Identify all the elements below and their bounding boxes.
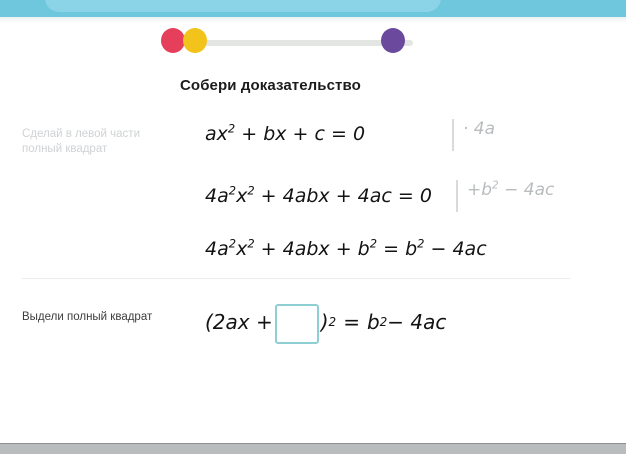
equation-3-eqpart: = b bbox=[377, 238, 417, 260]
equation-2-a: 4a bbox=[205, 185, 229, 207]
answer-equation-rhs-tail: − 4ac bbox=[387, 310, 446, 334]
answer-input-box[interactable] bbox=[275, 304, 319, 344]
progress-indicator bbox=[0, 28, 626, 54]
answer-equation-relation: = bbox=[343, 310, 360, 334]
annotation-2-tail: − 4ac bbox=[499, 180, 555, 200]
annotation-add-b2-minus-4ac: +b2 − 4ac bbox=[456, 180, 554, 212]
step-label-make-square: Сделай в левой части полный квадрат bbox=[22, 127, 182, 157]
equation-2-x-exponent: 2 bbox=[247, 184, 254, 198]
answer-equation-close: ) bbox=[321, 310, 329, 334]
equation-3-x: x bbox=[236, 238, 247, 260]
equation-3-a: 4a bbox=[205, 238, 229, 260]
page-title: Собери доказательство bbox=[180, 77, 361, 94]
footer-strip bbox=[0, 443, 626, 454]
annotation-2-exponent: 2 bbox=[492, 179, 499, 191]
equation-1-base: ax bbox=[205, 123, 228, 145]
equation-2-a-exponent: 2 bbox=[229, 184, 236, 198]
equation-2-rest: + 4abx + 4ac = 0 bbox=[255, 185, 432, 207]
answer-equation: (2ax +)2=b2 − 4ac bbox=[205, 302, 446, 342]
equation-2-x: x bbox=[236, 185, 247, 207]
equation-3-x-exponent: 2 bbox=[247, 237, 254, 251]
equation-3: 4a2x2 + 4abx + b2 = b2 − 4ac bbox=[205, 238, 487, 260]
equation-3-mid: + 4abx + b bbox=[255, 238, 370, 260]
section-divider bbox=[22, 278, 570, 279]
equation-1: ax2 + bx + c = 0 bbox=[205, 123, 365, 145]
equation-2: 4a2x2 + 4abx + 4ac = 0 bbox=[205, 185, 432, 207]
equation-3-mid-exponent: 2 bbox=[370, 237, 377, 251]
answer-equation-rhs-b: b bbox=[367, 310, 380, 334]
equation-1-rest: + bx + c = 0 bbox=[235, 123, 365, 145]
step-label-extract-square: Выдели полный квадрат bbox=[22, 311, 152, 323]
equation-3-tail: − 4ac bbox=[424, 238, 486, 260]
progress-dot-yellow[interactable] bbox=[183, 28, 207, 53]
progress-dot-red[interactable] bbox=[161, 28, 185, 53]
header-pill-decoration bbox=[45, 0, 441, 12]
equation-3-a-exponent: 2 bbox=[229, 237, 236, 251]
annotation-multiply-4a: · 4a bbox=[452, 119, 495, 151]
progress-dot-purple[interactable] bbox=[381, 28, 405, 53]
annotation-2-lead: +b bbox=[467, 180, 492, 200]
answer-equation-lead: (2ax + bbox=[205, 310, 273, 334]
header-shadow bbox=[0, 17, 626, 23]
step-row-answer: Выдели полный квадрат (2ax +)2=b2 − 4ac bbox=[0, 300, 626, 360]
app-header-bar bbox=[0, 0, 626, 17]
